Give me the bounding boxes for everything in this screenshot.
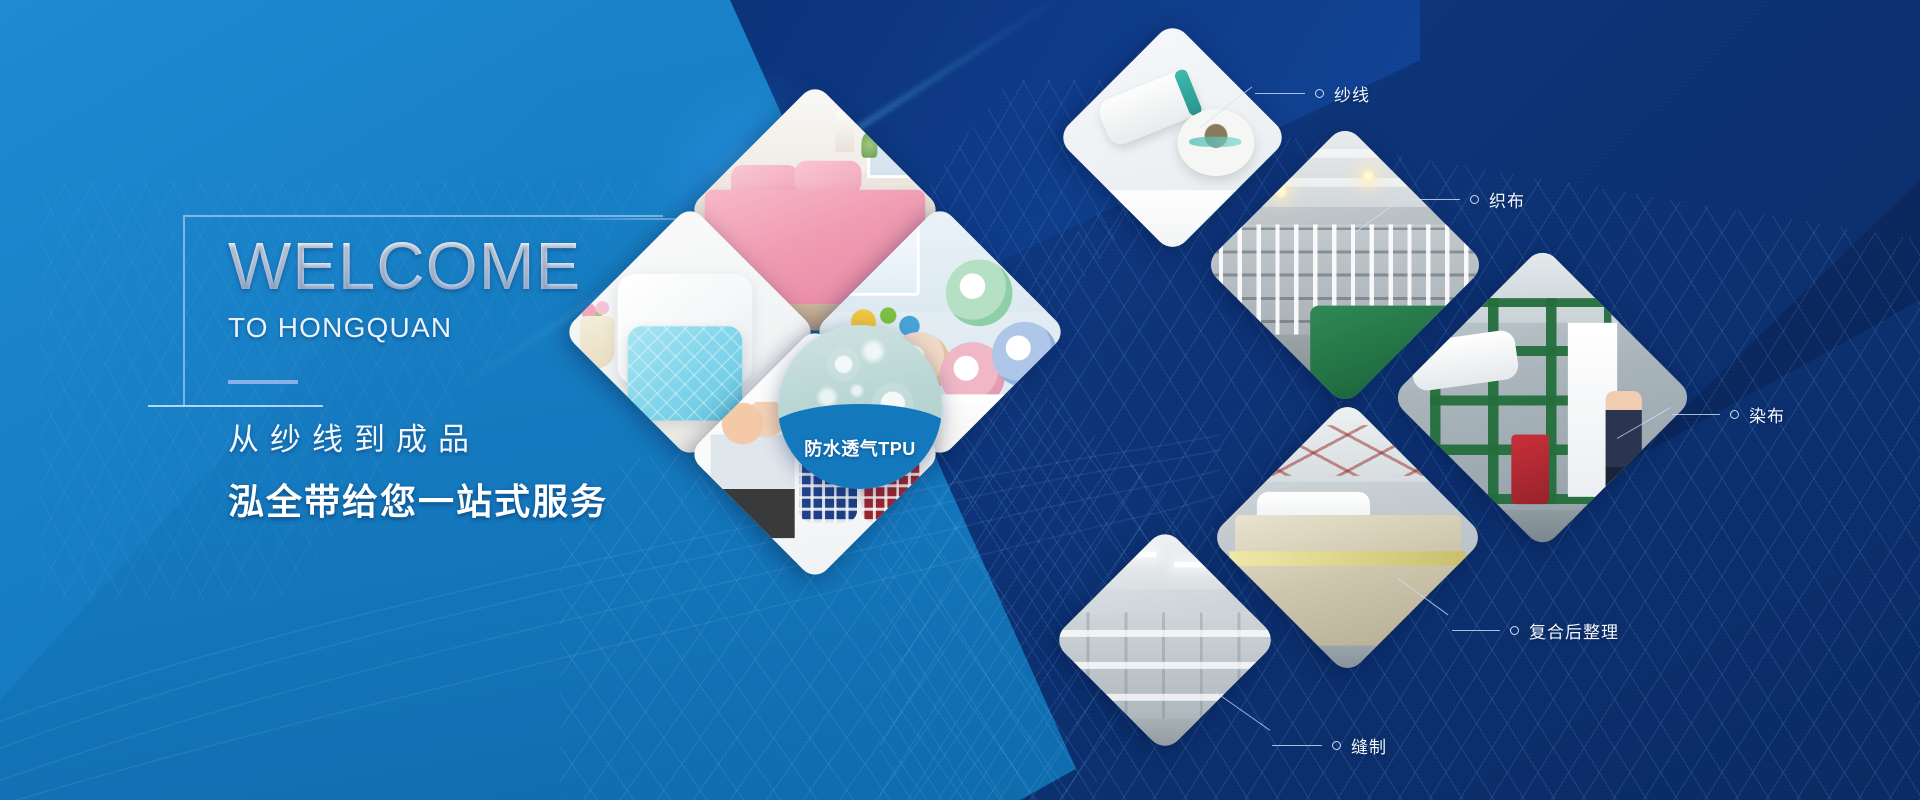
callout-dyeing[interactable]: 染布 [1672,402,1785,427]
callout-label-weaving: 织布 [1489,187,1525,212]
callout-dot-icon [1332,741,1341,750]
callout-yarn[interactable]: 纱线 [1255,81,1370,106]
badge-label: 防水透气TPU [778,435,942,461]
callout-dot-icon [1510,626,1519,635]
callout-label-dyeing: 染布 [1749,402,1785,427]
callout-dot-icon [1730,410,1739,419]
callout-line [1255,93,1305,94]
callout-label-compositing: 复合后整理 [1529,618,1619,643]
callout-dot-icon [1470,195,1479,204]
callout-line [1412,199,1460,200]
center-badge[interactable]: 防水透气TPU [778,325,942,489]
callout-line [1452,630,1500,631]
callout-label-yarn: 纱线 [1334,81,1370,106]
bottom-divider [148,405,323,407]
hero-banner: WELCOME TO HONGQUAN 从纱线到成品 泓全带给您一站式服务 [0,0,1920,800]
accent-rule [228,380,298,384]
callout-weaving[interactable]: 织布 [1412,187,1525,212]
product-diamond-cluster: 防水透气TPU [600,120,1030,560]
callout-line [1272,745,1322,746]
callout-label-sewing: 缝制 [1351,733,1387,758]
callout-sewing[interactable]: 缝制 [1272,733,1387,758]
callout-compositing[interactable]: 复合后整理 [1452,618,1619,643]
callout-dot-icon [1315,89,1324,98]
callout-line [1672,414,1720,415]
